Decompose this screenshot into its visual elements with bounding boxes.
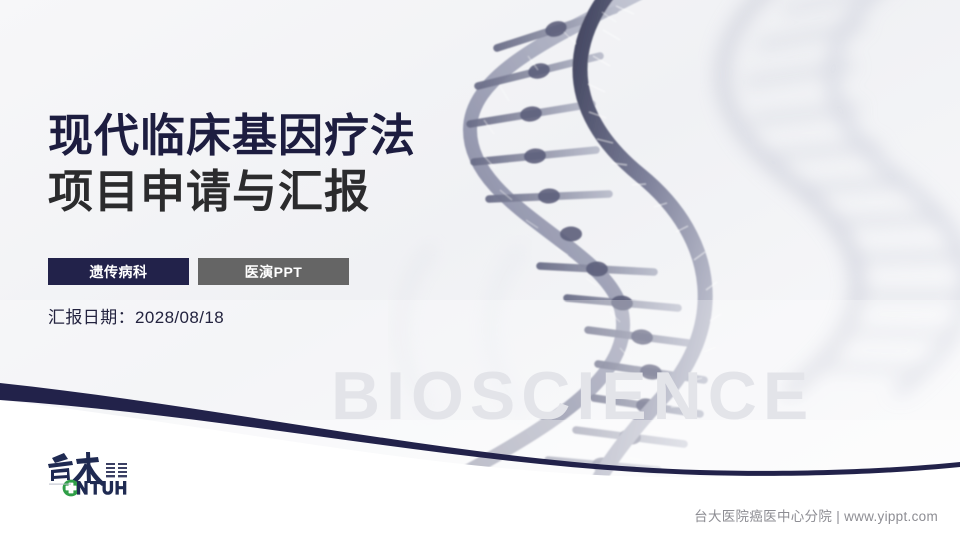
brush-characters-icon xyxy=(48,452,105,486)
presentation-title-slide: BIOSCIENCE 现代临床基因疗法 项目申请与汇报 遗传病科 医演PPT 汇… xyxy=(0,0,960,540)
title-line-primary: 现代临床基因疗法 xyxy=(48,108,416,164)
green-cross-icon xyxy=(63,480,80,497)
page-title: 现代临床基因疗法 项目申请与汇报 xyxy=(48,108,416,221)
badge-group: 遗传病科 医演PPT xyxy=(48,258,349,285)
status-badge-department: 遗传病科 xyxy=(48,258,189,285)
report-date: 汇报日期：2028/08/18 xyxy=(48,303,224,328)
ntuh-hospital-logo xyxy=(42,449,150,503)
logo-underline xyxy=(49,484,71,485)
footer-attribution: 台大医院癌医中心分院 | www.yippt.com xyxy=(694,505,938,525)
title-line-secondary: 项目申请与汇报 xyxy=(48,164,416,220)
status-badge-brand: 医演PPT xyxy=(198,258,349,285)
bioscience-watermark: BIOSCIENCE xyxy=(331,362,814,430)
hospital-characters-icon xyxy=(106,463,127,477)
